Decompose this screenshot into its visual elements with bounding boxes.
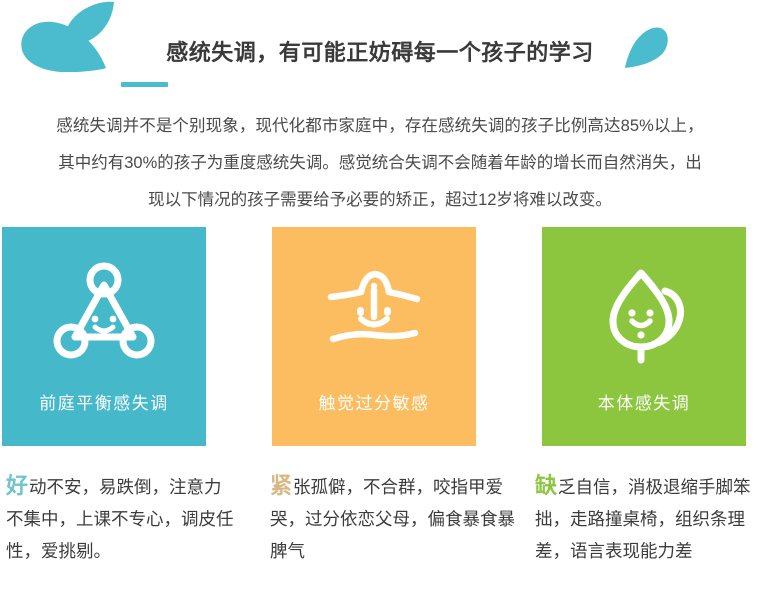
- description-lead-character: 好: [6, 473, 28, 498]
- page-header: 感统失调，有可能正妨碍每一个孩子的学习: [0, 38, 760, 87]
- leaf-face-icon: [589, 261, 699, 365]
- intro-line-2: 其中约有30%的孩子为重度感统失调。感觉统合失调不会随着年龄的增长而自然消失，出: [0, 145, 760, 182]
- description-text: 乏自信，消极退缩手脚笨拙，走路撞桌椅，组织条理差，语言表现能力差: [535, 477, 751, 561]
- description-proprioception: 缺乏自信，消极退缩手脚笨拙，走路撞桌椅，组织条理差，语言表现能力差: [535, 470, 757, 567]
- intro-paragraph: 感统失调并不是个别现象，现代化都市家庭中，存在感统失调的孩子比例高达85%以上，…: [0, 108, 760, 219]
- intro-line-1: 感统失调并不是个别现象，现代化都市家庭中，存在感统失调的孩子比例高达85%以上，: [0, 108, 760, 145]
- card-vestibular-balance[interactable]: 前庭平衡感失调: [2, 227, 206, 446]
- symptom-cards-row: 前庭平衡感失调 触觉过分敏感: [0, 227, 760, 447]
- symptom-descriptions-row: 好动不安，易跌倒，注意力不集中，上课不专心，调皮任性，爱挑剔。 紧张孤僻，不合群…: [0, 470, 760, 613]
- description-vestibular: 好动不安，易跌倒，注意力不集中，上课不专心，调皮任性，爱挑剔。: [6, 470, 238, 567]
- card-label: 本体感失调: [598, 389, 691, 414]
- description-text: 张孤僻，不合群，咬指甲爱哭，过分依恋父母，偏食暴食暴脾气: [270, 477, 515, 561]
- card-label: 触觉过分敏感: [319, 389, 430, 414]
- hat-face-hand-icon: [319, 261, 429, 365]
- description-lead-character: 紧: [270, 473, 292, 498]
- page-title: 感统失调，有可能正妨碍每一个孩子的学习: [0, 38, 760, 68]
- card-tactile-sensitivity[interactable]: 触觉过分敏感: [272, 227, 476, 446]
- description-text: 动不安，易跌倒，注意力不集中，上课不专心，调皮任性，爱挑剔。: [6, 477, 234, 561]
- description-lead-character: 缺: [535, 473, 557, 498]
- title-underline-rule: [121, 82, 168, 87]
- triangle-circles-face-icon: [49, 261, 159, 365]
- card-label: 前庭平衡感失调: [39, 389, 169, 414]
- card-proprioception[interactable]: 本体感失调: [542, 227, 746, 446]
- intro-line-3: 现以下情况的孩子需要给予必要的矫正，超过12岁将难以改变。: [0, 182, 760, 219]
- description-tactile: 紧张孤僻，不合群，咬指甲爱哭，过分依恋父母，偏食暴食暴脾气: [270, 470, 518, 567]
